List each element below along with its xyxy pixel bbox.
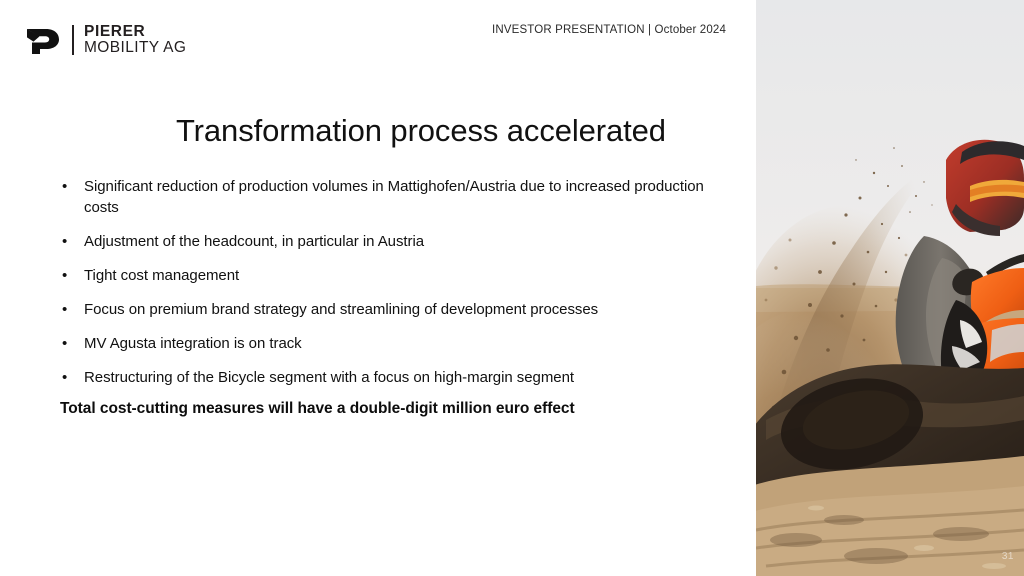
list-item-text: Restructuring of the Bicycle segment wit… [84,367,574,388]
logo-line-mobility-ag: MOBILITY AG [84,40,186,56]
bullet-marker-icon: • [60,265,84,286]
logo-line-pierer: PIERER [84,24,186,40]
pierer-arrow-logo-icon [26,25,64,55]
logo-wordmark: PIERER MOBILITY AG [84,24,186,56]
list-item-text: Tight cost management [84,265,239,286]
conclusion-statement: Total cost-cutting measures will have a … [60,400,575,418]
list-item: • Adjustment of the headcount, in partic… [60,231,725,252]
slide-root: PIERER MOBILITY AG INVESTOR PRESENTATION… [0,0,1024,576]
bullet-list: • Significant reduction of production vo… [60,176,725,401]
list-item: • Restructuring of the Bicycle segment w… [60,367,725,388]
page-number: 31 [1002,551,1014,562]
list-item: • Significant reduction of production vo… [60,176,725,218]
list-item-text: Adjustment of the headcount, in particul… [84,231,424,252]
list-item-text: MV Agusta integration is on track [84,333,302,354]
list-item: • MV Agusta integration is on track [60,333,725,354]
bullet-marker-icon: • [60,231,84,252]
list-item-text: Significant reduction of production volu… [84,176,725,218]
motocross-rider-photo: 31 [756,0,1024,576]
bullet-marker-icon: • [60,333,84,354]
list-item: • Focus on premium brand strategy and st… [60,299,725,320]
bullet-marker-icon: • [60,367,84,388]
brand-logo: PIERER MOBILITY AG [26,22,186,58]
list-item-text: Focus on premium brand strategy and stre… [84,299,598,320]
list-item: • Tight cost management [60,265,725,286]
logo-divider [72,25,74,55]
bullet-marker-icon: • [60,176,84,197]
bullet-marker-icon: • [60,299,84,320]
page-title: Transformation process accelerated [176,113,666,149]
presentation-meta: INVESTOR PRESENTATION | October 2024 [492,24,726,36]
